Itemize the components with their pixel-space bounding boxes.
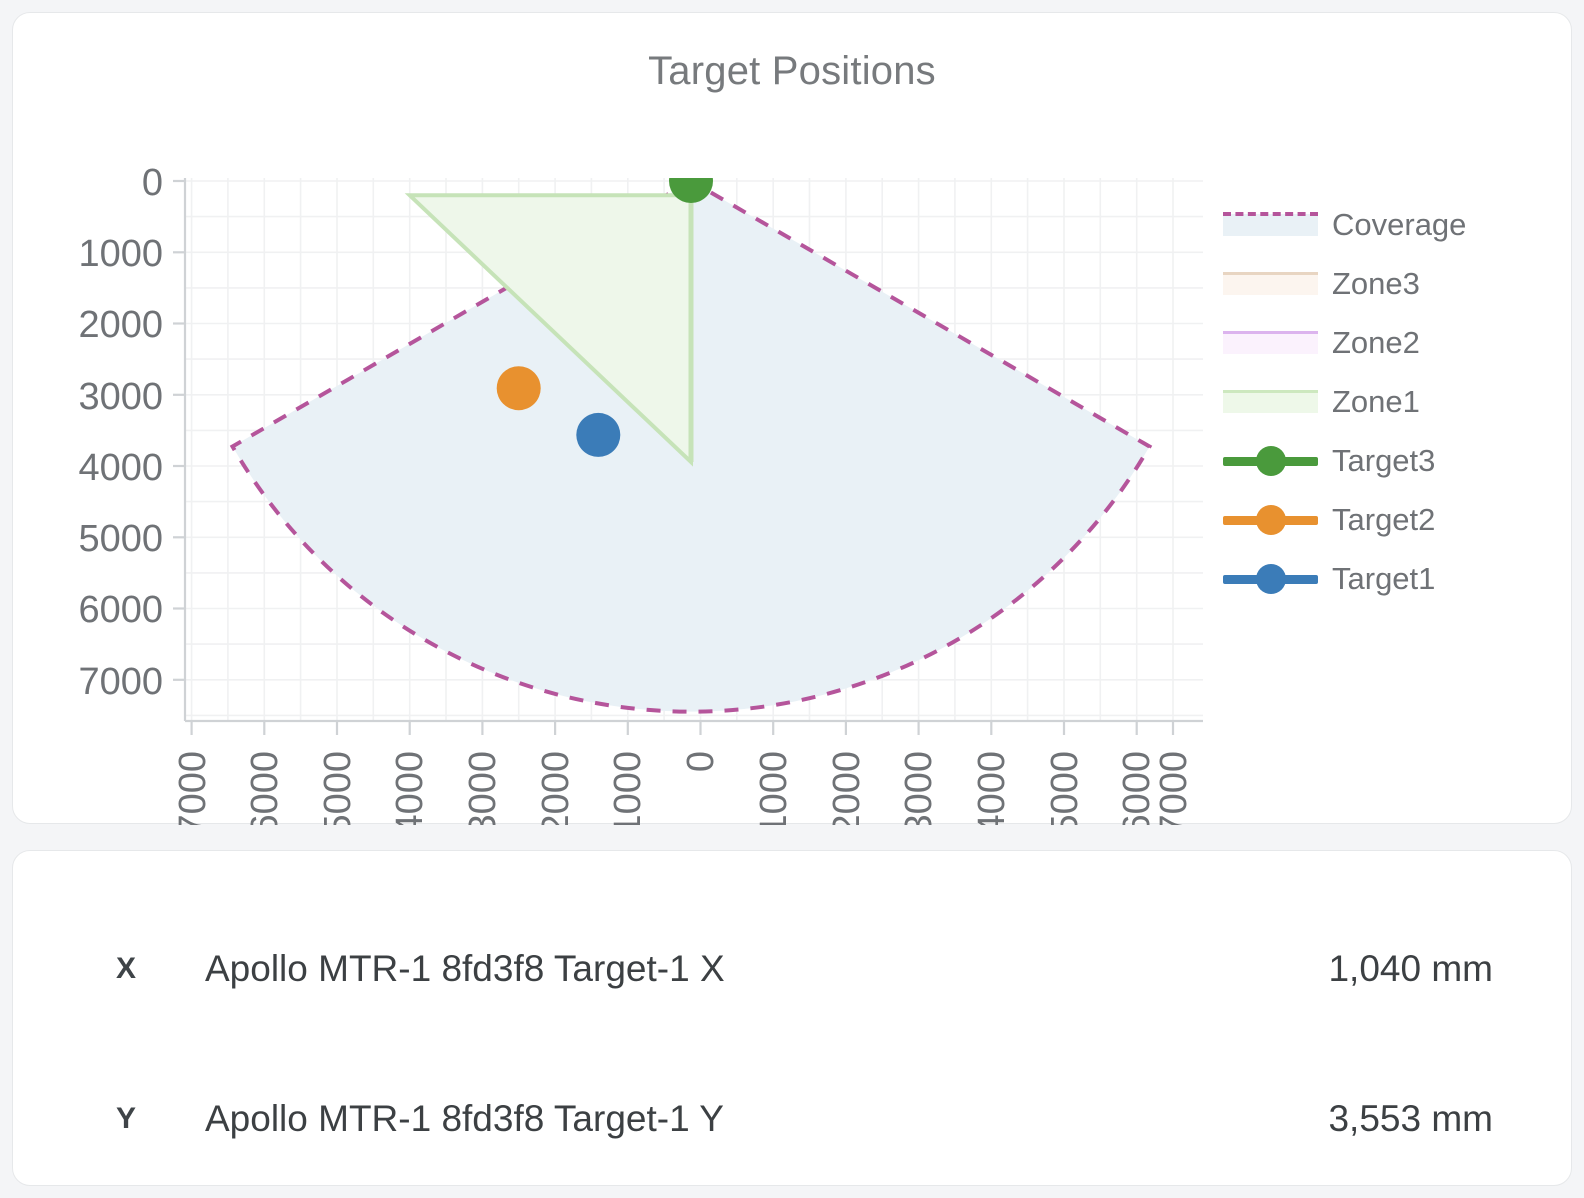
chart-legend: Coverage Zone3 Zone2: [1223, 195, 1553, 608]
legend-item-target3[interactable]: Target3: [1223, 431, 1553, 490]
legend-item-zone2[interactable]: Zone2: [1223, 313, 1553, 372]
y-tick-label: 1000: [78, 233, 163, 275]
legend-label: Target1: [1332, 561, 1435, 597]
legend-label: Zone2: [1332, 325, 1420, 361]
legend-swatch-target3: [1223, 446, 1318, 476]
x-tick-label: 1000: [607, 751, 649, 825]
detail-list-card: X Apollo MTR-1 8fd3f8 Target-1 X 1,040 m…: [12, 850, 1572, 1186]
x-tick-label: -5000: [1044, 751, 1086, 825]
x-tick-label: 6000: [244, 751, 286, 825]
y-tick-label: 2000: [78, 304, 163, 346]
plot-area[interactable]: 0 1000 2000 3000 4000 5000 6000 7000: [13, 13, 1573, 825]
legend-label: Coverage: [1332, 207, 1466, 243]
detail-row-label: Apollo MTR-1 8fd3f8 Target-1 Y: [205, 1098, 724, 1140]
x-tick-label: -3000: [898, 751, 940, 825]
x-tick-label: 4000: [389, 751, 431, 825]
page-root: Target Positions: [0, 0, 1584, 1198]
detail-row-label: Apollo MTR-1 8fd3f8 Target-1 X: [205, 948, 725, 990]
legend-item-coverage[interactable]: Coverage: [1223, 195, 1553, 254]
y-tick-labels: 0 1000 2000 3000 4000 5000 6000 7000: [78, 162, 163, 703]
legend-item-zone1[interactable]: Zone1: [1223, 372, 1553, 431]
x-tick-label: -6000: [1116, 751, 1158, 825]
x-tick-labels: 7000 6000 5000 4000 3000 2000 1000 0 -10…: [172, 751, 1195, 825]
legend-swatch-zone3: [1223, 269, 1318, 299]
x-tick-label: -2000: [826, 751, 868, 825]
y-tick-label: 6000: [78, 589, 163, 631]
x-tick-label: 7000: [172, 751, 214, 825]
detail-row-x[interactable]: X Apollo MTR-1 8fd3f8 Target-1 X 1,040 m…: [13, 913, 1571, 1025]
legend-label: Target3: [1332, 443, 1435, 479]
x-tick-label: 3000: [462, 751, 504, 825]
legend-swatch-zone2: [1223, 328, 1318, 358]
marker-target2[interactable]: [497, 366, 541, 410]
y-axis-badge-icon: Y: [101, 1092, 151, 1146]
x-tick-label: -7000: [1153, 751, 1195, 825]
legend-swatch-zone1: [1223, 387, 1318, 417]
detail-row-value: 3,553 mm: [1328, 1098, 1493, 1140]
y-tick-label: 3000: [78, 376, 163, 418]
detail-row-value: 1,040 mm: [1328, 948, 1493, 990]
legend-item-target2[interactable]: Target2: [1223, 490, 1553, 549]
legend-label: Zone3: [1332, 266, 1420, 302]
x-axis-badge-icon: X: [101, 942, 151, 996]
x-tick-label: 2000: [535, 751, 577, 825]
legend-item-target1[interactable]: Target1: [1223, 549, 1553, 608]
legend-swatch-target2: [1223, 505, 1318, 535]
y-tick-marks: [173, 181, 185, 680]
x-tick-label: -1000: [753, 751, 795, 825]
x-tick-marks: [192, 721, 1173, 735]
x-tick-label: 0: [680, 751, 722, 772]
chart-card: Target Positions: [12, 12, 1572, 824]
x-tick-label: -4000: [971, 751, 1013, 825]
y-tick-label: 7000: [78, 661, 163, 703]
legend-item-zone3[interactable]: Zone3: [1223, 254, 1553, 313]
legend-swatch-coverage: [1223, 210, 1318, 240]
legend-label: Zone1: [1332, 384, 1420, 420]
legend-swatch-target1: [1223, 564, 1318, 594]
y-tick-label: 4000: [78, 447, 163, 489]
marker-target1[interactable]: [576, 413, 620, 457]
y-tick-label: 0: [142, 162, 163, 204]
legend-label: Target2: [1332, 502, 1435, 538]
marker-target3[interactable]: [669, 159, 713, 203]
x-tick-label: 5000: [317, 751, 359, 825]
y-tick-label: 5000: [78, 518, 163, 560]
detail-row-y[interactable]: Y Apollo MTR-1 8fd3f8 Target-1 Y 3,553 m…: [13, 1063, 1571, 1175]
